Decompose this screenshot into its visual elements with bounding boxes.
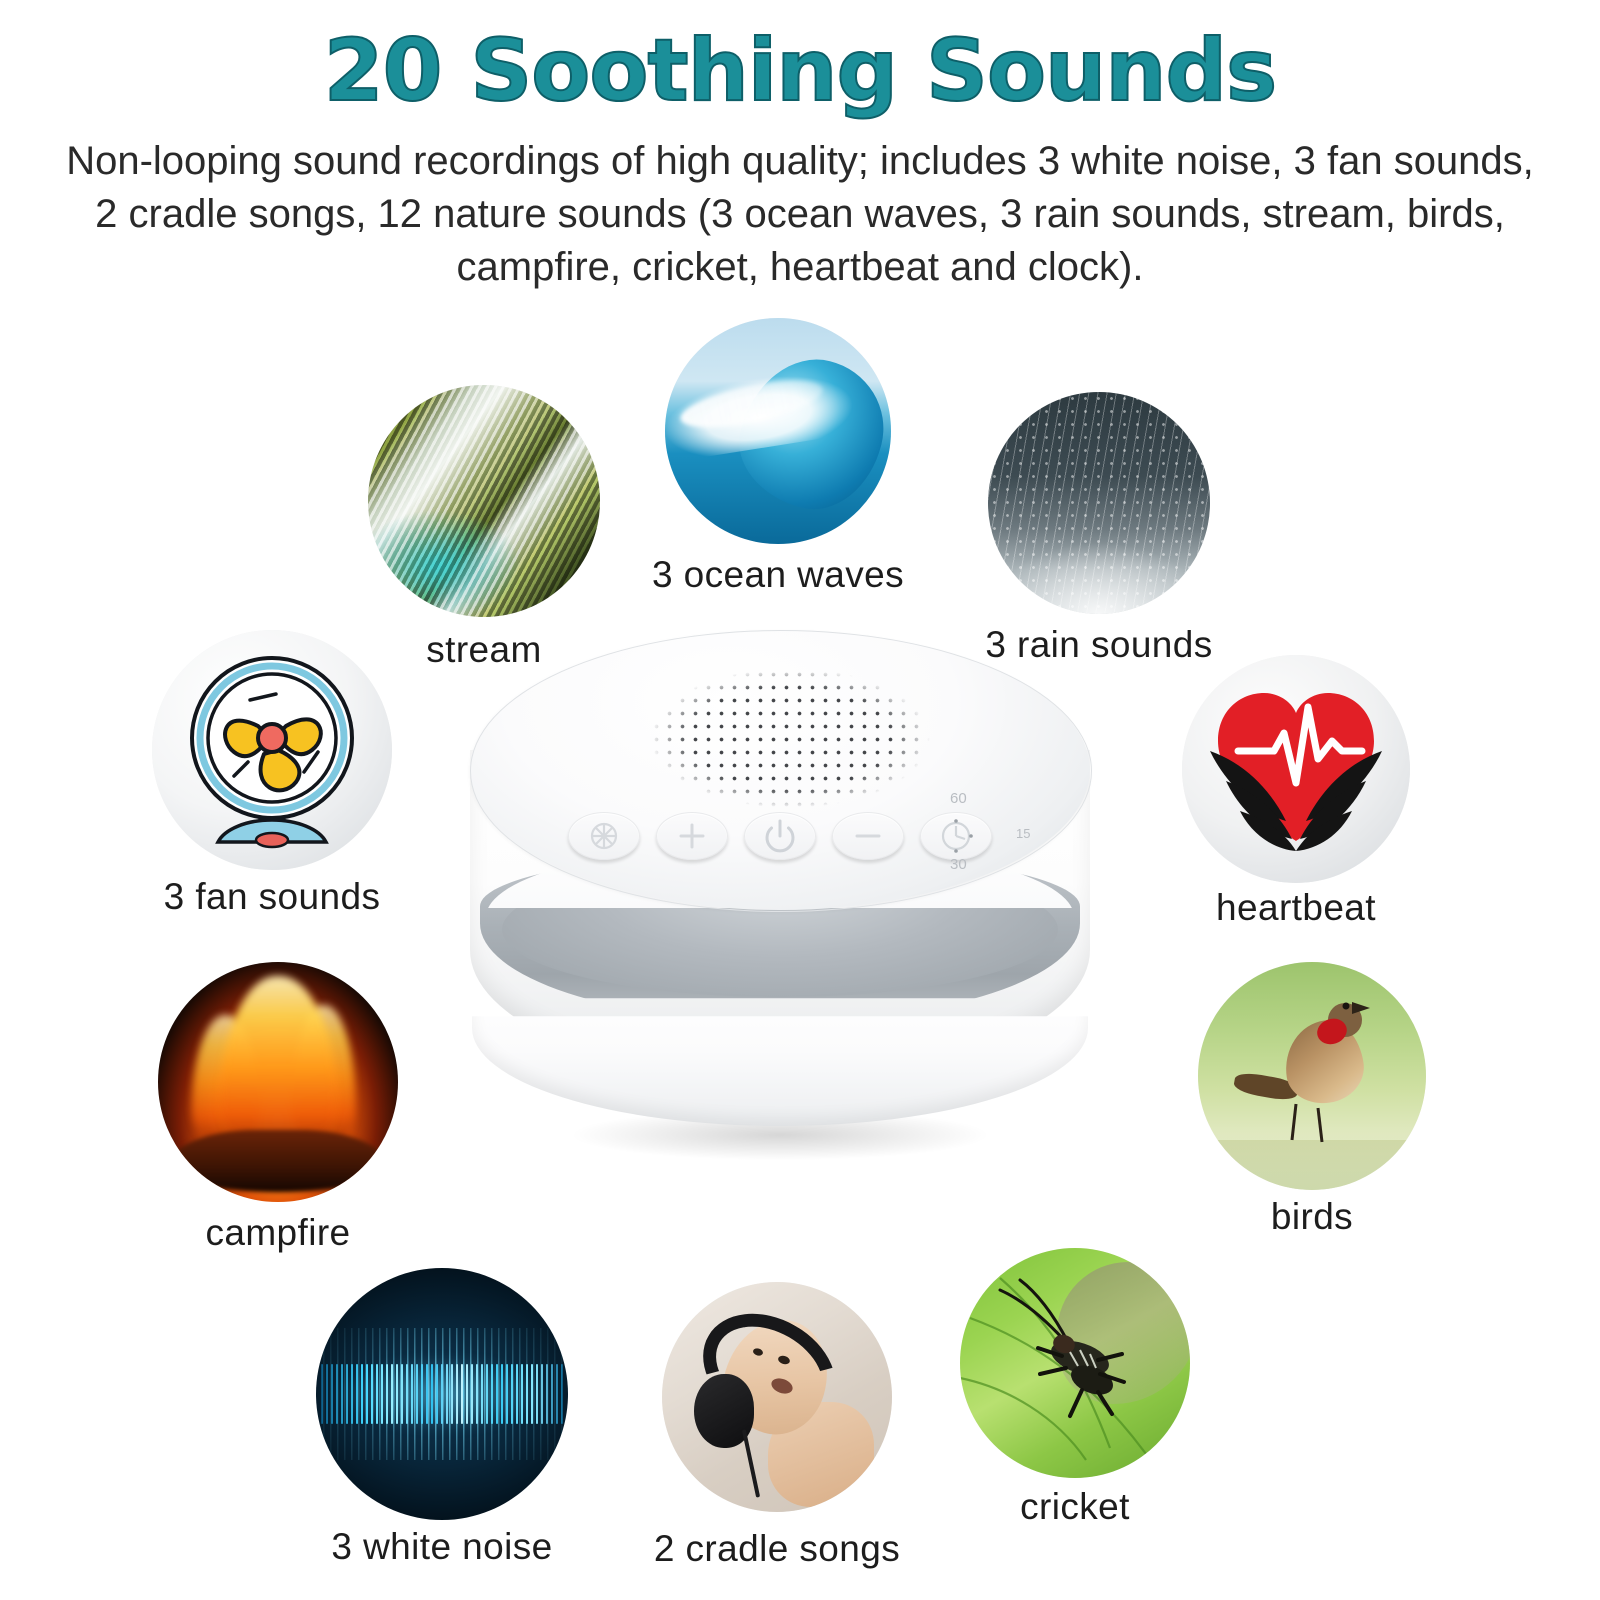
page-subtitle: Non-looping sound recordings of high qua… <box>60 135 1540 295</box>
ocean-waves-thumbnail <box>665 318 891 544</box>
heartbeat-icon <box>1182 655 1410 883</box>
volume-down-button[interactable] <box>832 812 904 860</box>
sound-mode-button[interactable] <box>568 812 640 860</box>
cricket-thumbnail <box>960 1248 1190 1478</box>
rain-thumbnail <box>988 392 1210 614</box>
timer-mark-30: 30 <box>950 856 967 873</box>
birds-thumbnail <box>1198 962 1426 1190</box>
plus-icon <box>657 813 727 859</box>
badge-heartbeat[interactable]: heartbeat <box>1182 655 1410 955</box>
heartbeat-thumbnail <box>1182 655 1410 883</box>
device-button-row: 60 30 15 <box>568 812 998 870</box>
timer-button[interactable] <box>920 812 992 860</box>
badge-rain-sounds[interactable]: 3 rain sounds <box>988 392 1210 692</box>
badge-cricket[interactable]: cricket <box>960 1248 1190 1548</box>
badge-campfire[interactable]: campfire <box>158 962 398 1262</box>
minus-icon <box>833 813 903 859</box>
cricket-icon <box>960 1248 1190 1478</box>
stream-icon <box>368 385 600 617</box>
baby-headphones-icon <box>662 1282 892 1512</box>
badge-label-cricket: cricket <box>914 1486 1236 1528</box>
rain-icon <box>988 392 1210 614</box>
power-button[interactable] <box>744 812 816 860</box>
infographic-canvas: 20 Soothing Sounds Non-looping sound rec… <box>0 0 1600 1600</box>
timer-icon <box>921 813 991 859</box>
badge-label-fan-sounds: 3 fan sounds <box>90 876 454 918</box>
campfire-thumbnail <box>158 962 398 1202</box>
badge-label-white-noise: 3 white noise <box>256 1526 628 1568</box>
badge-ocean-waves[interactable]: 3 ocean waves <box>665 318 891 618</box>
white-noise-thumbnail <box>316 1268 568 1520</box>
badge-label-birds: birds <box>1154 1196 1470 1238</box>
timer-mark-15: 15 <box>1016 826 1030 841</box>
power-icon <box>745 813 815 859</box>
badge-label-heartbeat: heartbeat <box>1138 887 1454 929</box>
page-title: 20 Soothing Sounds <box>0 26 1600 116</box>
stream-thumbnail <box>368 385 600 617</box>
timer-mark-60: 60 <box>950 790 967 807</box>
bird-icon <box>1198 962 1426 1190</box>
waveform-icon <box>316 1268 568 1520</box>
badge-label-cradle-songs: 2 cradle songs <box>590 1528 964 1570</box>
badge-white-noise[interactable]: 3 white noise <box>316 1268 568 1568</box>
badge-cradle-songs[interactable]: 2 cradle songs <box>662 1282 892 1582</box>
cradle-songs-thumbnail <box>662 1282 892 1512</box>
badge-birds[interactable]: birds <box>1198 962 1426 1262</box>
badge-label-campfire: campfire <box>110 1212 446 1254</box>
speaker-grille-icon <box>650 668 930 808</box>
badge-stream[interactable]: stream <box>368 385 600 685</box>
sound-machine-device[interactable]: 60 30 15 <box>450 630 1110 1190</box>
badge-label-ocean-waves: 3 ocean waves <box>605 554 951 596</box>
sound-mode-icon <box>569 813 639 859</box>
ocean-wave-icon <box>665 318 891 544</box>
fan-icon <box>152 630 392 870</box>
volume-up-button[interactable] <box>656 812 728 860</box>
fan-thumbnail <box>152 630 392 870</box>
badge-fan-sounds[interactable]: 3 fan sounds <box>152 630 392 930</box>
campfire-icon <box>158 962 398 1202</box>
